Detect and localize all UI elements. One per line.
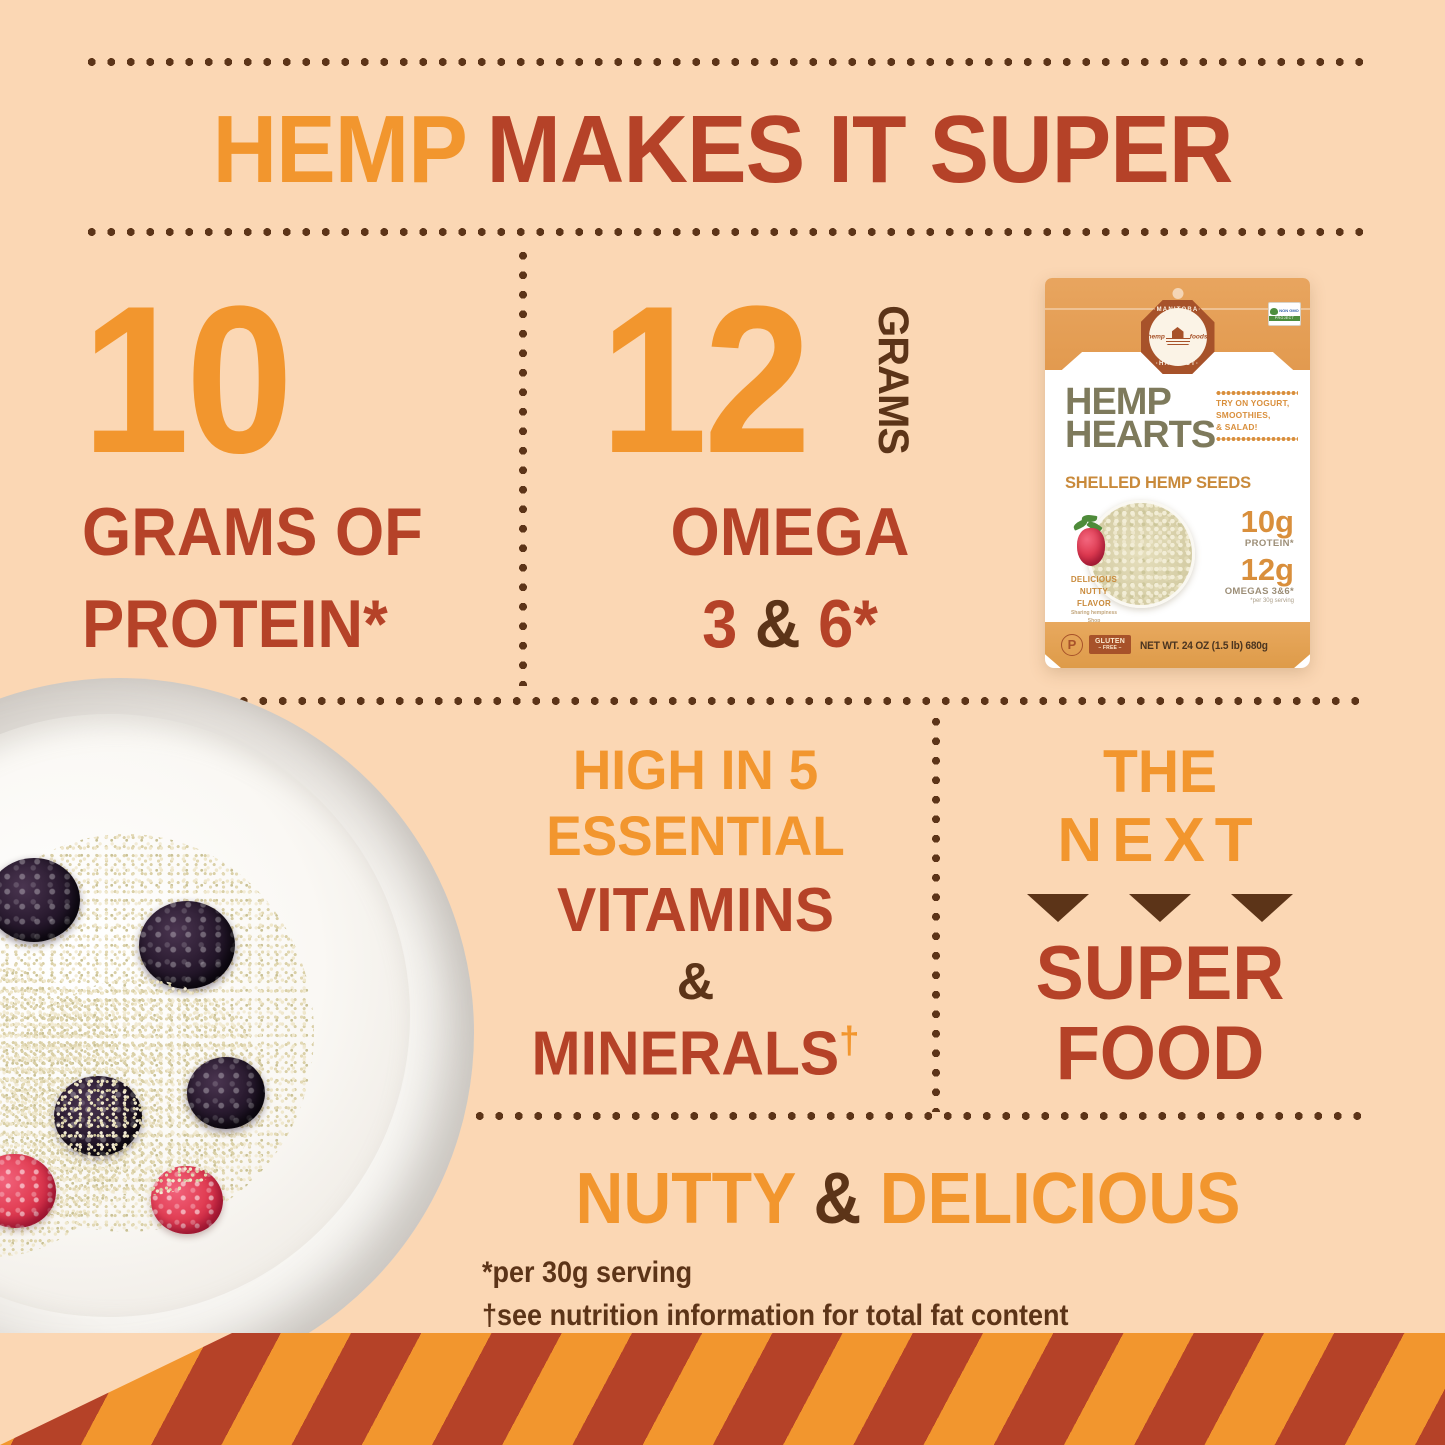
divider-lower <box>470 1112 1370 1120</box>
next-line3: SUPER <box>975 936 1346 1012</box>
vitamins-line3: VITAMINS <box>479 880 911 942</box>
protein-value: 10 <box>82 288 450 473</box>
usage-dots-bottom <box>1216 437 1298 441</box>
usage-dots-top <box>1216 391 1298 395</box>
headline-hemp: HEMP <box>213 95 467 205</box>
barn-icon <box>1165 327 1191 347</box>
blackberry <box>139 901 235 989</box>
gluten-free-badge: GLUTEN – FREE – <box>1089 635 1131 654</box>
non-gmo-badge: NON GMO PROJECT VERIFIED <box>1268 302 1301 326</box>
brand-name-top: ·MANITOBA· <box>1153 307 1201 313</box>
usage-line2: SMOOTHIES, <box>1216 410 1298 422</box>
infographic-canvas: HEMP MAKES IT SUPER 10 GRAMS OF PROTEIN*… <box>0 0 1445 1445</box>
package-net-weight: NET WT. 24 OZ (1.5 lb) 680g <box>1140 640 1268 652</box>
vitamins-line5: MINERALS† <box>479 1022 911 1086</box>
protein-label-line1: GRAMS OF <box>82 499 454 566</box>
arrow-row <box>965 894 1355 922</box>
package-omega-note: *per 30g serving <box>1250 598 1294 604</box>
next-line4: FOOD <box>975 1016 1346 1092</box>
omega-number-row: 12 GRAMS <box>600 288 980 473</box>
yogurt-bowl-photo <box>0 678 474 1388</box>
non-gmo-label: NON GMO <box>1279 309 1299 313</box>
vitamins-line2: ESSENTIAL <box>479 808 911 864</box>
package-protein-value: 10g <box>1241 506 1294 537</box>
brand-word-foods: foods <box>1190 334 1208 341</box>
triangle-down-icon <box>1231 894 1293 922</box>
flavor-small1: Sharing hempiness <box>1063 610 1125 618</box>
non-gmo-verified-bar: PROJECT VERIFIED <box>1269 316 1300 321</box>
bottom-stripe-band <box>0 1333 1445 1445</box>
package-title-line2: HEARTS <box>1065 419 1217 452</box>
package-omega-label: OMEGAS 3&6* <box>1225 586 1294 597</box>
tagline-ampersand: & <box>814 1159 862 1239</box>
triangle-down-icon <box>1129 894 1191 922</box>
stat-panel-omega: 12 GRAMS OMEGA 3 & 6* <box>600 288 980 658</box>
next-line2: NEXT <box>965 810 1355 872</box>
footnote-line2: †see nutrition information for total fat… <box>482 1295 1256 1338</box>
flavor-line2: NUTTY <box>1063 586 1125 598</box>
package-title: HEMP HEARTS <box>1065 386 1217 451</box>
usage-line3: & SALAD! <box>1216 422 1298 434</box>
panel-vitamins-minerals: HIGH IN 5 ESSENTIAL VITAMINS & MINERALS† <box>468 742 923 1086</box>
next-line1: THE <box>975 742 1346 802</box>
divider-vertical-mid <box>932 712 940 1112</box>
package-subtitle: SHELLED HEMP SEEDS <box>1065 474 1280 493</box>
dagger-symbol: † <box>839 1019 859 1062</box>
omega-label-line1: OMEGA <box>613 499 966 566</box>
brand-word-hemp: hemp <box>1148 334 1165 341</box>
butterfly-icon <box>1270 308 1278 315</box>
vitamins-line1: HIGH IN 5 <box>479 742 911 798</box>
panel-next-superfood: THE NEXT SUPER FOOD <box>965 742 1355 1092</box>
product-package[interactable]: ·MANITOBA· ·HARVEST· hemp foods NON GMO … <box>1045 278 1310 668</box>
omega-six: 6* <box>818 586 878 662</box>
divider-vertical-stats <box>519 246 527 686</box>
package-usage-callout: TRY ON YOGURT, SMOOTHIES, & SALAD! <box>1216 388 1298 444</box>
tagline-part-b: DELICIOUS <box>861 1159 1240 1239</box>
headline-rest: MAKES IT SUPER <box>486 95 1232 205</box>
field-icon <box>1166 338 1190 347</box>
bowl-interior <box>0 714 410 1318</box>
brand-name-bottom: ·HARVEST· <box>1156 361 1199 367</box>
gluten-free-line2: – FREE – <box>1089 646 1131 652</box>
divider-under-headline <box>82 228 1370 236</box>
minerals-word: MINERALS <box>532 1020 840 1089</box>
strawberry-body <box>1077 528 1105 566</box>
non-gmo-top: NON GMO <box>1270 308 1299 315</box>
omega-three: 3 <box>702 586 737 662</box>
gluten-free-line1: GLUTEN <box>1095 638 1125 645</box>
divider-top <box>82 58 1370 66</box>
package-protein-label: PROTEIN* <box>1245 538 1294 549</box>
omega-ampersand: & <box>755 586 801 662</box>
flavor-line3: FLAVOR <box>1063 598 1125 610</box>
package-hang-hole <box>1172 288 1183 299</box>
flavor-line1: DELICIOUS <box>1063 574 1125 586</box>
package-body: ·MANITOBA· ·HARVEST· hemp foods NON GMO … <box>1045 278 1310 668</box>
package-omega-value: 12g <box>1241 554 1294 585</box>
triangle-down-icon <box>1027 894 1089 922</box>
stat-panel-protein: 10 GRAMS OF PROTEIN* <box>82 288 482 658</box>
usage-line1: TRY ON YOGURT, <box>1216 398 1298 410</box>
footnotes: *per 30g serving †see nutrition informat… <box>482 1252 1256 1337</box>
vitamins-ampersand: & <box>468 956 923 1008</box>
footnote-line1: *per 30g serving <box>482 1252 1256 1295</box>
paleo-badge: P <box>1061 634 1083 656</box>
blackberry <box>187 1057 265 1129</box>
tagline-part-a: NUTTY <box>576 1159 814 1239</box>
omega-label-line2: 3 & 6* <box>613 591 966 658</box>
page-title: HEMP MAKES IT SUPER <box>51 96 1395 204</box>
omega-unit-grams: GRAMS <box>868 305 917 454</box>
tagline: NUTTY & DELICIOUS <box>503 1158 1313 1240</box>
protein-label-line2: PROTEIN* <box>82 591 454 658</box>
strawberry-icon <box>1071 512 1109 566</box>
